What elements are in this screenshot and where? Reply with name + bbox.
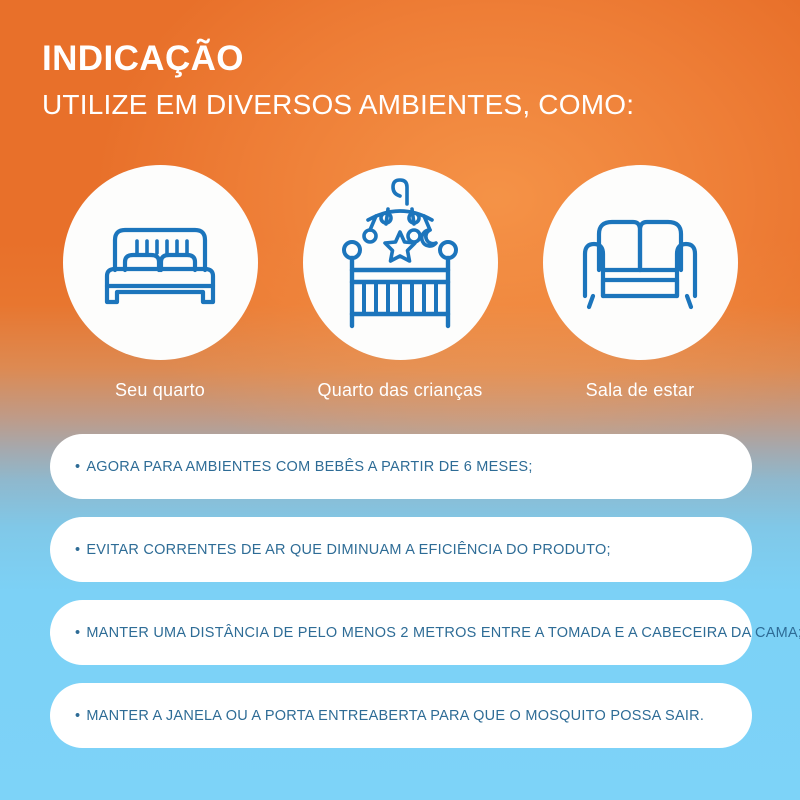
- list-item: •MANTER A JANELA OU A PORTA ENTREABERTA …: [50, 683, 752, 748]
- header-block: INDICAÇÃO UTILIZE EM DIVERSOS AMBIENTES,…: [42, 40, 634, 121]
- page-title: INDICAÇÃO: [42, 40, 634, 79]
- crib-icon: [330, 174, 470, 344]
- bed-icon: [95, 208, 225, 318]
- bullet-marker: •: [75, 708, 80, 724]
- bullet-marker: •: [75, 542, 80, 558]
- bullet-text: MANTER UMA DISTÂNCIA DE PELO MENOS 2 MET…: [86, 625, 800, 641]
- environment-item-bedroom: Seu quarto: [45, 165, 275, 401]
- environment-label: Quarto das crianças: [285, 380, 515, 401]
- circle-badge: [303, 165, 498, 360]
- bullet-text: AGORA PARA AMBIENTES COM BEBÊS A PARTIR …: [86, 459, 532, 475]
- bullet-marker: •: [75, 625, 80, 641]
- bullet-text: EVITAR CORRENTES DE AR QUE DIMINUAM A EF…: [86, 542, 610, 558]
- indication-poster: INDICAÇÃO UTILIZE EM DIVERSOS AMBIENTES,…: [0, 0, 800, 800]
- environment-label: Sala de estar: [525, 380, 755, 401]
- environment-item-children-room: Quarto das crianças: [285, 165, 515, 401]
- environment-label: Seu quarto: [45, 380, 275, 401]
- circle-badge: [543, 165, 738, 360]
- bullet-row: •AGORA PARA AMBIENTES COM BEBÊS A PARTIR…: [75, 459, 533, 475]
- sofa-icon: [575, 210, 705, 315]
- bullet-row: •MANTER UMA DISTÂNCIA DE PELO MENOS 2 ME…: [75, 625, 800, 641]
- list-item: •MANTER UMA DISTÂNCIA DE PELO MENOS 2 ME…: [50, 600, 752, 665]
- list-item: •AGORA PARA AMBIENTES COM BEBÊS A PARTIR…: [50, 434, 752, 499]
- list-item: •EVITAR CORRENTES DE AR QUE DIMINUAM A E…: [50, 517, 752, 582]
- bullet-marker: •: [75, 459, 80, 475]
- recommendation-list: •AGORA PARA AMBIENTES COM BEBÊS A PARTIR…: [50, 434, 752, 748]
- bullet-row: •EVITAR CORRENTES DE AR QUE DIMINUAM A E…: [75, 542, 611, 558]
- bullet-text: MANTER A JANELA OU A PORTA ENTREABERTA P…: [86, 708, 704, 724]
- environment-item-living-room: Sala de estar: [525, 165, 755, 401]
- circle-badge: [63, 165, 258, 360]
- page-subtitle: UTILIZE EM DIVERSOS AMBIENTES, COMO:: [42, 88, 634, 122]
- bullet-row: •MANTER A JANELA OU A PORTA ENTREABERTA …: [75, 708, 704, 724]
